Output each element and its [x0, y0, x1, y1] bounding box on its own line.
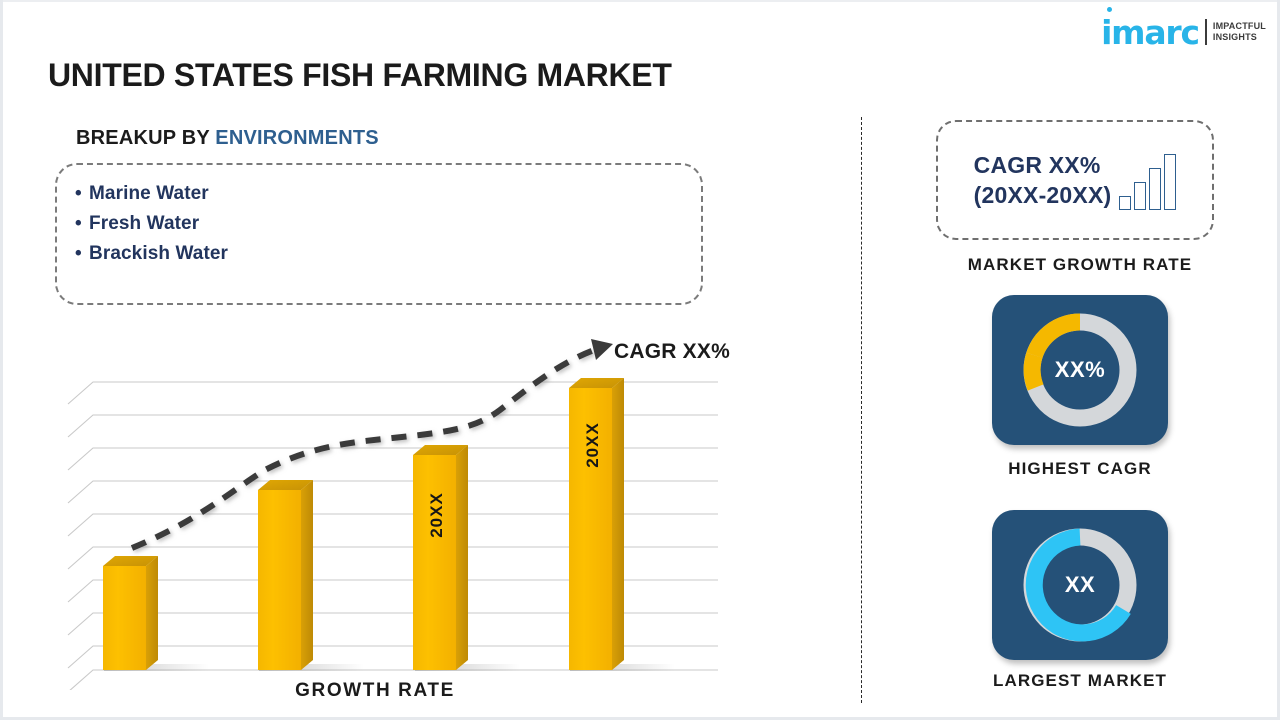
segment-label: Brackish Water [89, 243, 228, 264]
highest-cagr-caption: HIGHEST CAGR [880, 459, 1280, 479]
bullet-icon: • [75, 239, 89, 269]
market-growth-rate-value: CAGR XX% (20XX-20XX) [974, 150, 1112, 210]
bullet-icon: • [75, 209, 89, 239]
largest-market-caption: LARGEST MARKET [880, 671, 1280, 691]
trend-line [132, 339, 613, 548]
breakup-heading-prefix: BREAKUP BY [76, 127, 215, 149]
segment-list: •Marine Water •Fresh Water •Brackish Wat… [57, 165, 701, 269]
section-divider [861, 117, 862, 703]
bar-3 [413, 445, 468, 670]
highest-cagr-tile: XX% [992, 295, 1168, 445]
bar-1 [103, 556, 158, 670]
icon-bar-1 [1119, 196, 1131, 210]
icon-bar-4 [1164, 154, 1176, 210]
breakup-heading: BREAKUP BY ENVIRONMENTS [76, 127, 379, 150]
page-border-left [0, 0, 3, 720]
chart-cagr-callout: CAGR XX% [614, 340, 730, 364]
highest-cagr-value: XX% [992, 295, 1168, 445]
chart-canvas [60, 330, 750, 690]
segment-label: Marine Water [89, 183, 209, 204]
chart-xaxis-label: GROWTH RATE [0, 680, 750, 702]
bullet-icon: • [75, 179, 89, 209]
cagr-line-2: (20XX-20XX) [974, 180, 1112, 210]
icon-bar-3 [1149, 168, 1161, 210]
icon-bar-2 [1134, 182, 1146, 210]
market-growth-rate-card: CAGR XX% (20XX-20XX) [936, 120, 1214, 240]
page-title: UNITED STATES FISH FARMING MARKET [48, 57, 672, 94]
segment-label: Fresh Water [89, 213, 199, 234]
metrics-column: CAGR XX% (20XX-20XX) MARKET GROWTH RATE … [880, 0, 1280, 720]
market-growth-rate-caption: MARKET GROWTH RATE [880, 255, 1280, 275]
list-item: •Brackish Water [75, 239, 701, 269]
bar-2 [258, 480, 313, 670]
list-item: •Fresh Water [75, 209, 701, 239]
bar-chart-ascending-icon [1119, 150, 1176, 210]
largest-market-tile: XX [992, 510, 1168, 660]
infographic-page: imarc IMPACTFUL INSIGHTS UNITED STATES F… [0, 0, 1280, 720]
bar-label-4: 20XX [583, 422, 603, 468]
growth-rate-chart: 20XX 20XX [60, 330, 750, 710]
cagr-line-1: CAGR XX% [974, 150, 1112, 180]
bar-label-3: 20XX [427, 492, 447, 538]
trend-arrow-head [591, 339, 613, 360]
list-item: •Marine Water [75, 179, 701, 209]
segment-list-box: •Marine Water •Fresh Water •Brackish Wat… [55, 163, 703, 305]
breakup-heading-accent: ENVIRONMENTS [215, 127, 379, 149]
largest-market-value: XX [992, 510, 1168, 660]
